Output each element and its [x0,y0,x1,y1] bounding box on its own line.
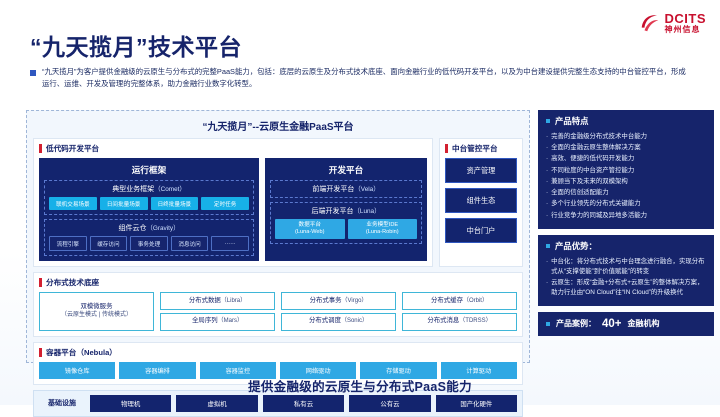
red-bar-icon [39,278,42,287]
base-col-2: 分布式事务（Virgo） 分布式调度（Sonic） [281,292,396,331]
advantage-text: 中台化：将分布式技术与中台理念进行融合，实现分布式从“支撑使能”到“价值赋能”的… [551,257,706,276]
distributed-base-panel: 分布式技术底座 双模微服务 （云原生模式 | 传统模式） 分布式数据（Libra… [33,272,523,337]
luna-robin-cn: 业务模型IDE [366,222,398,228]
feature-item: ·不同粒度的中台资产管控能力 [546,166,706,176]
development-platform-title: 开发平台 [270,164,422,176]
product-features-card: 产品特点 ·完善的金融级分布式技术中台能力 ·全面的金融云原生整体解决方案 ·高… [538,110,714,229]
base-cell-en: （Sonic） [341,318,368,324]
distributed-base-header: 分布式技术底座 [39,277,517,288]
infrastructure-chip[interactable]: 物理机 [90,395,171,412]
footer-caption: 提供金融级的云原生与分布式PaaS能力 [0,376,720,395]
luna-robin-en: (Luna-Robin) [366,229,399,235]
intro-paragraph: “九天揽月”为客户提供金融级的云原生与分布式的完整PaaS能力，包括：底层的云原… [30,66,690,90]
feature-item: ·多个行业领先的分布式关键能力 [546,199,706,209]
lowcode-platform-panel: 低代码开发平台 运行框架 典型业务框架（Comet） 联机交易场景 日间批量场景 [33,138,433,267]
dot-icon: · [546,154,548,164]
feature-item: ·全面的信创适配能力 [546,188,706,198]
container-platform-header: 容器平台（Nebula） [39,347,517,358]
base-cell[interactable]: 分布式数据（Libra） [160,292,275,310]
red-bar-icon [39,348,42,357]
base-cell[interactable]: 分布式缓存（Orbit） [402,292,517,310]
frontend-dev-platform: 前端开发平台（Vela） [270,180,422,198]
runtime-framework-title: 运行框架 [44,164,254,176]
product-case-card: 产品案例： 40+ 金融机构 [538,312,714,336]
infrastructure-chip[interactable]: 私有云 [263,395,344,412]
feature-item: ·兼顾当下及未来的双模架构 [546,177,706,187]
base-cell-cn: 分布式数据 [189,297,221,304]
backend-dev-title-cn: 后端开发平台 [312,208,354,215]
midctrl-item[interactable]: 资产管理 [445,158,517,183]
runtime-framework-box: 运行框架 典型业务框架（Comet） 联机交易场景 日间批量场景 日终批量场景 … [39,158,259,261]
base-cell-cn: 分布式事务 [310,297,342,304]
product-case-unit: 金融机构 [628,318,660,329]
backend-dev-title: 后端开发平台（Luna） [275,206,417,216]
development-platform-box: 开发平台 前端开发平台（Vela） 后端开发平台（Luna） 数据平台 [265,158,427,261]
base-cell-cn: 分布式消息 [427,317,459,324]
gravity-chip[interactable]: 事务处理 [130,236,168,251]
square-bullet-icon [546,322,550,326]
midctrl-platform-header: 中台管控平台 [445,143,517,154]
container-label-en: （Nebula） [76,348,117,357]
gravity-title-cn: 组件云仓 [118,225,146,232]
feature-item: ·全面的金融云原生整体解决方案 [546,143,706,153]
base-cell-en: （TDRSS） [459,318,491,324]
base-col-3: 分布式缓存（Orbit） 分布式消息（TDRSS） [402,292,517,331]
comet-title-cn: 典型业务框架 [112,186,154,193]
lowcode-platform-header: 低代码开发平台 [39,143,427,154]
feature-item: ·完善的金融级分布式技术中台能力 [546,132,706,142]
red-bar-icon [39,144,42,153]
base-cell[interactable]: 分布式消息（TDRSS） [402,313,517,331]
product-advantages-title: 产品优势： [555,240,597,252]
dot-icon: · [546,188,548,198]
dcits-swirl-icon [639,12,661,34]
comet-chip[interactable]: 定时任务 [201,197,249,210]
dot-icon: · [546,257,548,276]
luna-robin-chip[interactable]: 业务模型IDE (Luna-Robin) [348,219,418,239]
architecture-diagram: “九天揽月”--云原生金融PaaS平台 低代码开发平台 运行框架 典型业务框架（… [26,110,530,363]
dual-mode-title: 双模微服务 [81,303,113,311]
comet-chip[interactable]: 联机交易场景 [49,197,97,210]
intro-text: “九天揽月”为客户提供金融级的云原生与分布式的完整PaaS能力，包括：底层的云原… [42,66,690,90]
gravity-group: 组件云仓（Gravity） 流程引擎 缓存访问 事务处理 消息访问 …… [44,219,254,256]
gravity-title: 组件云仓（Gravity） [49,223,249,233]
dot-icon: · [546,199,548,209]
dot-icon: · [546,278,548,297]
feature-item: ·行业竞争力的同城及异地多活能力 [546,211,706,221]
dual-mode-microservice[interactable]: 双模微服务 （云原生模式 | 传统模式） [39,292,154,331]
gravity-chip[interactable]: …… [211,236,249,251]
dot-icon: · [546,177,548,187]
base-cell-en: （Mars） [218,318,243,324]
gravity-title-en: （Gravity） [146,225,179,232]
slide-root: DCITS 神州信息 “九天揽月”技术平台 “九天揽月”为客户提供金融级的云原生… [0,0,720,405]
base-cell-en: （Orbit） [463,298,488,304]
side-column: 产品特点 ·完善的金融级分布式技术中台能力 ·全面的金融云原生整体解决方案 ·高… [538,110,714,336]
dot-icon: · [546,143,548,153]
feature-text: 高效、便捷的低代码开发能力 [551,154,634,164]
dot-icon: · [546,166,548,176]
comet-title: 典型业务框架（Comet） [49,184,249,194]
comet-chip[interactable]: 日终批量场景 [151,197,199,210]
feature-text: 行业竞争力的同城及异地多活能力 [551,211,647,221]
advantage-item: ·中台化：将分布式技术与中台理念进行融合，实现分布式从“支撑使能”到“价值赋能”… [546,257,706,276]
midctrl-item[interactable]: 组件生态 [445,188,517,213]
product-advantages-header: 产品优势： [538,235,714,255]
diagram-title: “九天揽月”--云原生金融PaaS平台 [33,118,523,133]
feature-text: 完善的金融级分布式技术中台能力 [551,132,647,142]
container-platform-label: 容器平台（Nebula） [46,347,117,358]
logo-name: DCITS [665,12,707,25]
dot-icon: · [546,211,548,221]
page-title: “九天揽月”技术平台 [30,28,242,62]
square-bullet-icon [546,119,550,123]
infrastructure-chip[interactable]: 虚拟机 [176,395,257,412]
base-cell[interactable]: 全局序列（Mars） [160,313,275,331]
feature-item: ·高效、便捷的低代码开发能力 [546,154,706,164]
base-cell-en: （Virgo） [342,298,368,304]
luna-web-en: (Luna-Web) [295,229,324,235]
dot-icon: · [546,132,548,142]
container-label-cn: 容器平台 [46,348,76,357]
bullet-square-icon [30,70,36,76]
red-bar-icon [445,144,448,153]
base-cell-cn: 全局序列 [192,317,218,324]
product-features-title: 产品特点 [555,115,589,127]
distributed-base-label: 分布式技术底座 [46,277,99,288]
infrastructure-chip[interactable]: 国产化硬件 [436,395,517,412]
dcits-logo: DCITS 神州信息 [639,12,707,34]
midctrl-platform-panel: 中台管控平台 资产管理 组件生态 中台门户 [439,138,523,267]
frontend-dev-en: （Vela） [354,186,379,193]
base-cell-cn: 分布式调度 [309,317,341,324]
luna-web-chip[interactable]: 数据平台 (Luna-Web) [275,219,345,239]
base-cell[interactable]: 分布式事务（Virgo） [281,292,396,310]
comet-chip[interactable]: 日间批量场景 [100,197,148,210]
feature-text: 不同粒度的中台资产管控能力 [551,166,634,176]
feature-text: 兼顾当下及未来的双模架构 [551,177,628,187]
base-cell-en: （Libra） [221,298,246,304]
gravity-chip[interactable]: 流程引擎 [49,236,87,251]
product-case-title: 产品案例： [556,318,596,329]
lowcode-platform-label: 低代码开发平台 [46,143,99,154]
comet-title-en: （Comet） [154,186,186,193]
logo-name-cn: 神州信息 [665,26,707,34]
advantage-item: ·云原生：形成“金融+分布式+云原生”的整体解决方案，助力行业由“ON Clou… [546,278,706,297]
backend-dev-title-en: （Luna） [354,208,381,215]
product-advantages-card: 产品优势： ·中台化：将分布式技术与中台理念进行融合，实现分布式从“支撑使能”到… [538,235,714,306]
comet-group: 典型业务框架（Comet） 联机交易场景 日间批量场景 日终批量场景 定时任务 [44,180,254,215]
base-cell-cn: 分布式缓存 [431,297,463,304]
gravity-chip[interactable]: 缓存访问 [90,236,128,251]
infrastructure-label: 基础设施 [39,398,85,408]
advantage-text: 云原生：形成“金融+分布式+云原生”的整体解决方案，助力行业由“ON Cloud… [551,278,706,297]
dual-mode-col: 双模微服务 （云原生模式 | 传统模式） [39,292,154,331]
frontend-dev-title: 前端开发平台 [312,186,354,193]
luna-web-cn: 数据平台 [299,222,321,228]
product-case-number: 40+ [602,318,622,330]
feature-text: 全面的信创适配能力 [551,188,609,198]
square-bullet-icon [546,244,550,248]
feature-text: 全面的金融云原生整体解决方案 [551,143,640,153]
base-cell[interactable]: 分布式调度（Sonic） [281,313,396,331]
feature-text: 多个行业领先的分布式关键能力 [551,199,640,209]
dual-mode-sub: （云原生模式 | 传统模式） [61,312,132,320]
product-features-header: 产品特点 [538,110,714,130]
base-col-1: 分布式数据（Libra） 全局序列（Mars） [160,292,275,331]
midctrl-item[interactable]: 中台门户 [445,218,517,243]
backend-dev-platform: 后端开发平台（Luna） 数据平台 (Luna-Web) 业务模型IDE (Lu… [270,202,422,244]
midctrl-platform-label: 中台管控平台 [452,143,498,154]
gravity-chip[interactable]: 消息访问 [171,236,209,251]
infrastructure-chip[interactable]: 公有云 [349,395,430,412]
